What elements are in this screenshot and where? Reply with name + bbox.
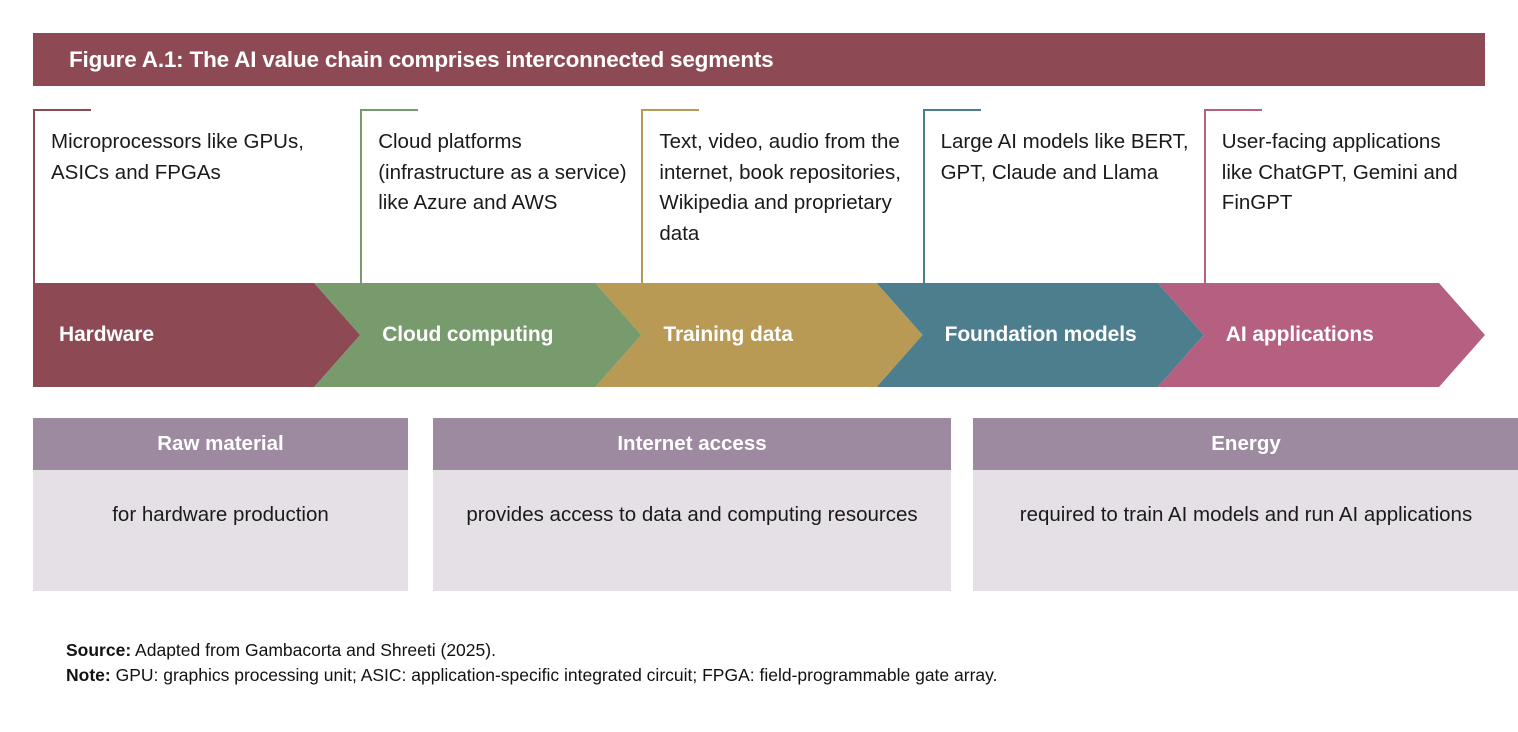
enabler-title: Raw material: [157, 432, 283, 456]
chevron-segment-hardware[interactable]: Hardware: [33, 283, 360, 387]
enabler-row: Raw material for hardware production Int…: [33, 418, 1485, 591]
segment-description-text: Large AI models like BERT, GPT, Claude a…: [941, 127, 1196, 188]
segment-description-ai-applications: User-facing applications like ChatGPT, G…: [1204, 103, 1485, 283]
chevron-label: Hardware: [59, 323, 154, 347]
segment-description-text: Microprocessors like GPUs, ASICs and FPG…: [51, 127, 306, 188]
enabler-card-energy: Energy required to train AI models and r…: [973, 418, 1518, 591]
chevron-label: Training data: [663, 323, 792, 347]
enabler-text: required to train AI models and run AI a…: [1020, 500, 1472, 530]
enabler-header: Raw material: [33, 418, 408, 470]
source-label: Source:: [66, 640, 131, 660]
note-line: Note: GPU: graphics processing unit; ASI…: [66, 663, 1486, 688]
enabler-title: Energy: [1211, 432, 1281, 456]
chevron-segment-foundation-models[interactable]: Foundation models: [877, 283, 1204, 387]
figure-title-banner: Figure A.1: The AI value chain comprises…: [33, 33, 1485, 86]
segment-description-cloud-computing: Cloud platforms (infrastructure as a ser…: [360, 103, 641, 283]
segment-description-hardware: Microprocessors like GPUs, ASICs and FPG…: [33, 103, 314, 283]
segment-description-text: User-facing applications like ChatGPT, G…: [1222, 127, 1477, 219]
source-line: Source: Adapted from Gambacorta and Shre…: [66, 638, 1486, 663]
chevron-segment-training-data[interactable]: Training data: [595, 283, 922, 387]
chevron-segment-cloud-computing[interactable]: Cloud computing: [314, 283, 641, 387]
value-chain-chevron-row: Hardware Cloud computing Training data F…: [33, 283, 1485, 387]
source-text: Adapted from Gambacorta and Shreeti (202…: [131, 640, 496, 660]
enabler-card-raw-material: Raw material for hardware production: [33, 418, 408, 591]
enabler-card-internet-access: Internet access provides access to data …: [433, 418, 951, 591]
chevron-label: AI applications: [1226, 323, 1374, 347]
enabler-body: for hardware production: [33, 470, 408, 591]
segment-description-row: Microprocessors like GPUs, ASICs and FPG…: [33, 103, 1485, 283]
segment-description-foundation-models: Large AI models like BERT, GPT, Claude a…: [923, 103, 1204, 283]
enabler-body: required to train AI models and run AI a…: [973, 470, 1518, 591]
enabler-title: Internet access: [617, 432, 766, 456]
chevron-label: Foundation models: [945, 323, 1137, 347]
enabler-header: Internet access: [433, 418, 951, 470]
enabler-body: provides access to data and computing re…: [433, 470, 951, 591]
enabler-header: Energy: [973, 418, 1518, 470]
segment-description-text: Text, video, audio from the internet, bo…: [659, 127, 914, 249]
page-title: Figure A.1: The AI value chain comprises…: [33, 47, 773, 73]
chevron-segment-ai-applications[interactable]: AI applications: [1158, 283, 1485, 387]
note-text: GPU: graphics processing unit; ASIC: app…: [111, 665, 998, 685]
note-label: Note:: [66, 665, 111, 685]
footnotes: Source: Adapted from Gambacorta and Shre…: [66, 638, 1486, 688]
chevron-label: Cloud computing: [382, 323, 553, 347]
enabler-text: provides access to data and computing re…: [466, 500, 917, 530]
enabler-text: for hardware production: [112, 500, 329, 530]
segment-description-text: Cloud platforms (infrastructure as a ser…: [378, 127, 633, 219]
segment-description-training-data: Text, video, audio from the internet, bo…: [641, 103, 922, 283]
